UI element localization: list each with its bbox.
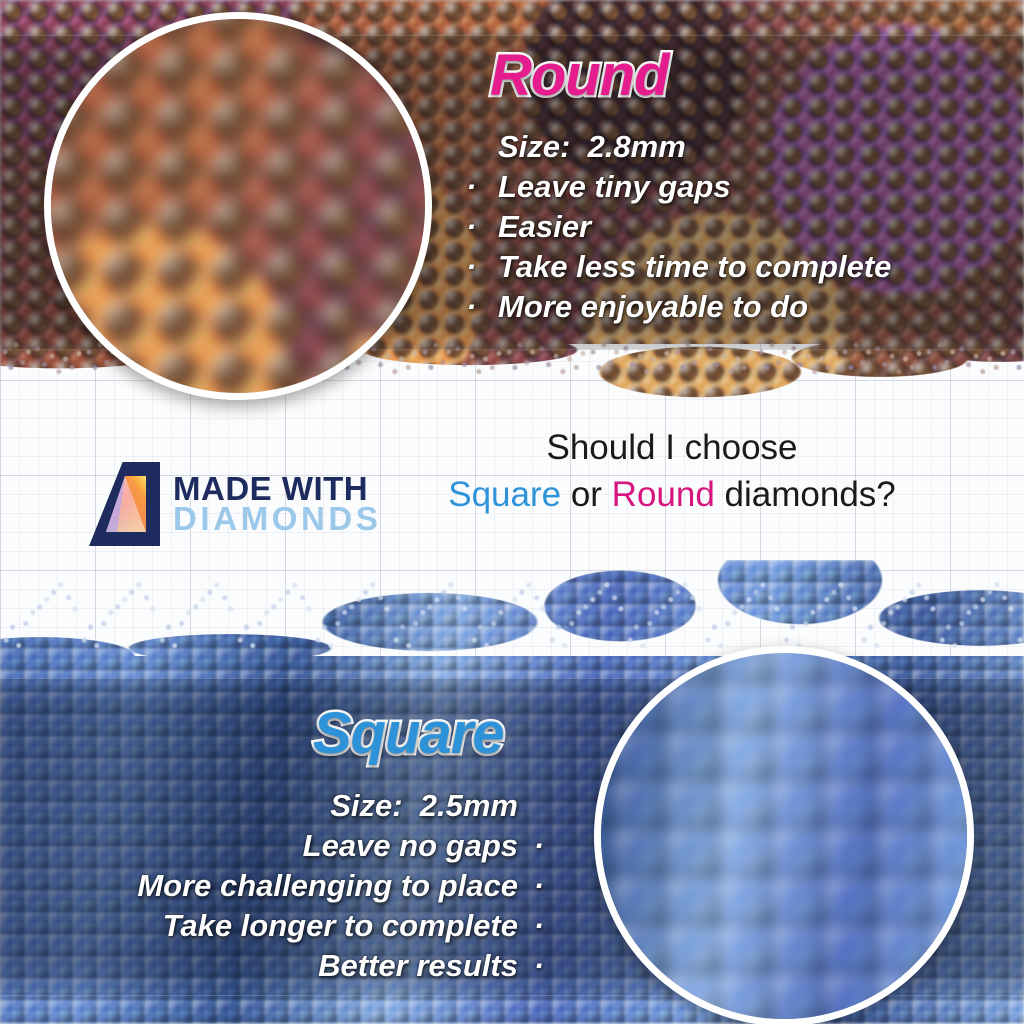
round-feature-label: Leave tiny gaps (498, 169, 731, 204)
round-heading: Round (490, 47, 669, 105)
list-item: · Leave tiny gaps (460, 167, 1000, 207)
question-conjunction: or (561, 475, 612, 514)
question-square-word: Square (448, 475, 561, 514)
list-item: · Easier (460, 207, 1000, 247)
list-item: · Take less time to complete (460, 247, 1000, 287)
bullet-icon: · (534, 946, 544, 986)
round-feature-block: Size: 2.8mm · Leave tiny gaps · Easier ·… (460, 127, 1000, 327)
question-line-2: Square or Round diamonds? (412, 471, 932, 518)
diamond-gem-logo-icon (86, 462, 160, 546)
bullet-icon: · (466, 287, 476, 327)
square-feature-label: Better results (318, 948, 518, 983)
round-size-label: Size: 2.8mm (460, 127, 1000, 167)
square-feature-label: More challenging to place (137, 868, 518, 903)
square-feature-label: Take longer to complete (163, 908, 518, 943)
bullet-icon: · (534, 826, 544, 866)
round-closeup-texture-overlay (44, 12, 432, 400)
square-feature-list: Leave no gaps · More challenging to plac… (30, 826, 552, 986)
list-item: · More enjoyable to do (460, 287, 1000, 327)
round-feature-label: Easier (498, 209, 591, 244)
infographic-canvas: Round Size: 2.8mm · Leave tiny gaps · Ea… (0, 0, 1024, 1024)
bullet-icon: · (466, 207, 476, 247)
list-item: Leave no gaps · (30, 826, 552, 866)
brand-logo: MADE WITH DIAMONDS (86, 462, 381, 546)
list-item: Take longer to complete · (30, 906, 552, 946)
bullet-icon: · (534, 906, 544, 946)
question-round-word: Round (612, 475, 715, 514)
question-text: Should I choose Square or Round diamonds… (412, 424, 932, 519)
round-feature-label: More enjoyable to do (498, 289, 808, 324)
question-line-1: Should I choose (412, 424, 932, 471)
square-feature-block: Size: 2.5mm Leave no gaps · More challen… (30, 786, 552, 986)
bullet-icon: · (466, 167, 476, 207)
square-feature-label: Leave no gaps (303, 828, 518, 863)
round-closeup-inset (44, 12, 432, 400)
bullet-icon: · (534, 866, 544, 906)
bullet-icon: · (466, 247, 476, 287)
list-item: Better results · (30, 946, 552, 986)
square-size-label: Size: 2.5mm (30, 786, 552, 826)
round-feature-list: · Leave tiny gaps · Easier · Take less t… (460, 167, 1000, 327)
round-feature-label: Take less time to complete (498, 249, 891, 284)
square-heading: Square (313, 705, 504, 763)
brand-line-2: DIAMONDS (173, 504, 381, 534)
list-item: More challenging to place · (30, 866, 552, 906)
square-closeup-inset (594, 646, 974, 1024)
square-closeup-texture-overlay (594, 646, 974, 1024)
brand-wordmark: MADE WITH DIAMONDS (173, 474, 381, 535)
question-tail: diamonds? (715, 475, 896, 514)
